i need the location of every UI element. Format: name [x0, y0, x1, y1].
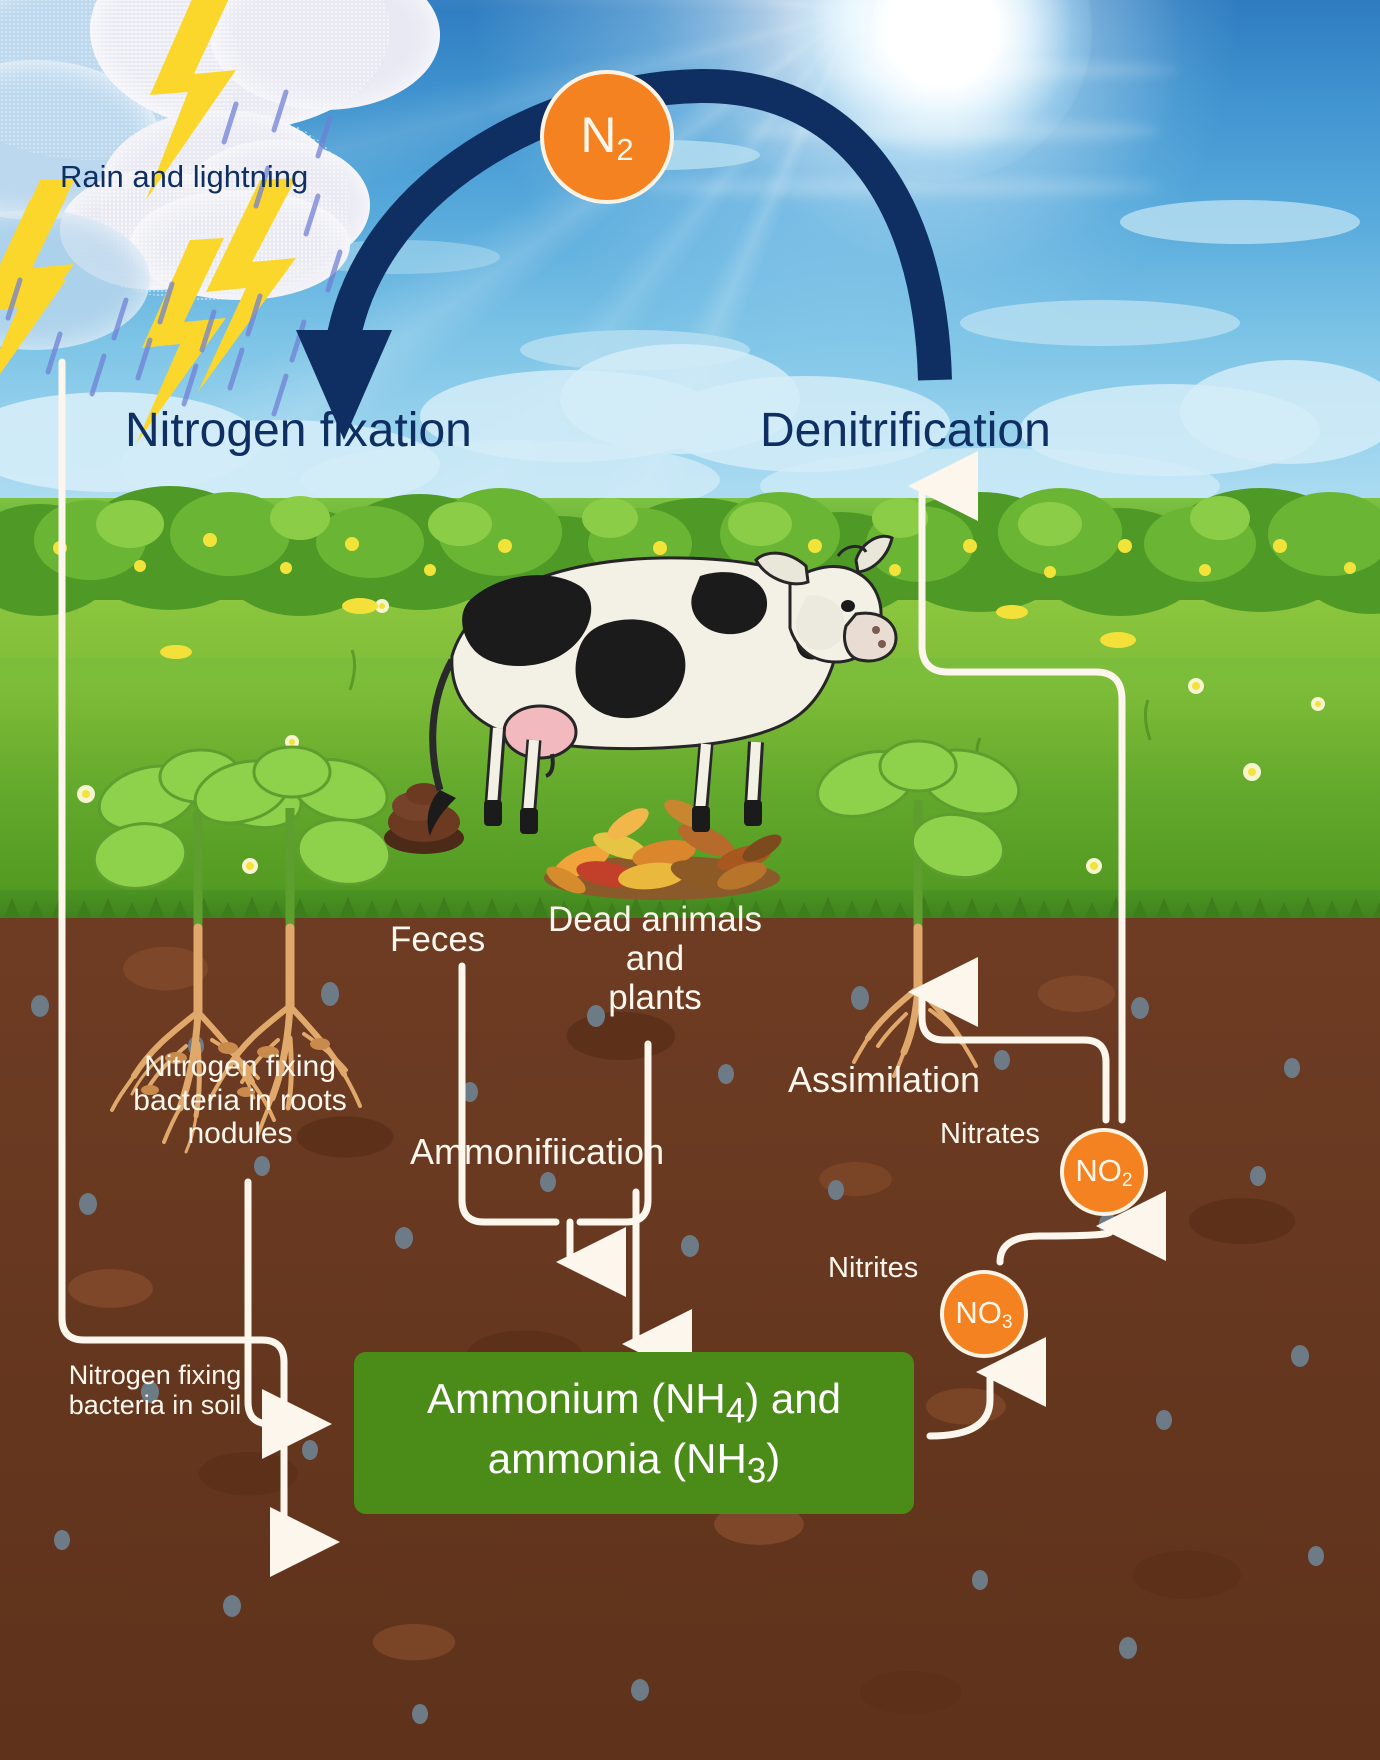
label-dead-animals-and-plants: Dead animals and plants — [520, 900, 790, 1018]
node-no2-label: NO2 — [1075, 1153, 1132, 1192]
sky-wisp — [640, 178, 1160, 196]
label-ammonification: Ammonifiication — [410, 1132, 664, 1172]
background-cloud — [1120, 200, 1360, 244]
node-no3-label: NO3 — [955, 1295, 1012, 1334]
sky-wisp — [740, 120, 1160, 142]
grass-field — [0, 600, 1380, 918]
node-no3[interactable]: NO3 — [940, 1270, 1028, 1358]
ammonium-ammonia-text: Ammonium (NH4) andammonia (NH3) — [427, 1373, 841, 1493]
node-n2[interactable]: N2 — [540, 70, 674, 204]
label-nitrites: Nitrites — [828, 1252, 918, 1284]
label-nitrogen-fixing-bacteria-soil: Nitrogen fixing bacteria in soil — [40, 1360, 270, 1420]
label-nitrogen-fixing-bacteria-roots: Nitrogen fixing bacteria in roots nodule… — [120, 1050, 360, 1151]
node-no2[interactable]: NO2 — [1060, 1128, 1148, 1216]
nitrogen-cycle-diagram: N2 Rain and lightning Nitrogen fixation … — [0, 0, 1380, 1760]
background-cloud — [960, 300, 1240, 346]
soil-layer — [0, 918, 1380, 1760]
label-nitrates: Nitrates — [940, 1118, 1040, 1150]
ammonium-ammonia-box[interactable]: Ammonium (NH4) andammonia (NH3) — [354, 1352, 914, 1514]
label-nitrogen-fixation: Nitrogen fixation — [125, 404, 472, 458]
label-rain-and-lightning: Rain and lightning — [60, 160, 308, 195]
label-assimilation: Assimilation — [788, 1060, 980, 1100]
label-denitrification: Denitrification — [760, 404, 1051, 458]
field-shading — [0, 658, 1380, 722]
label-feces: Feces — [390, 920, 485, 959]
sky-wisp — [820, 62, 1180, 78]
node-n2-label: N2 — [580, 106, 633, 168]
